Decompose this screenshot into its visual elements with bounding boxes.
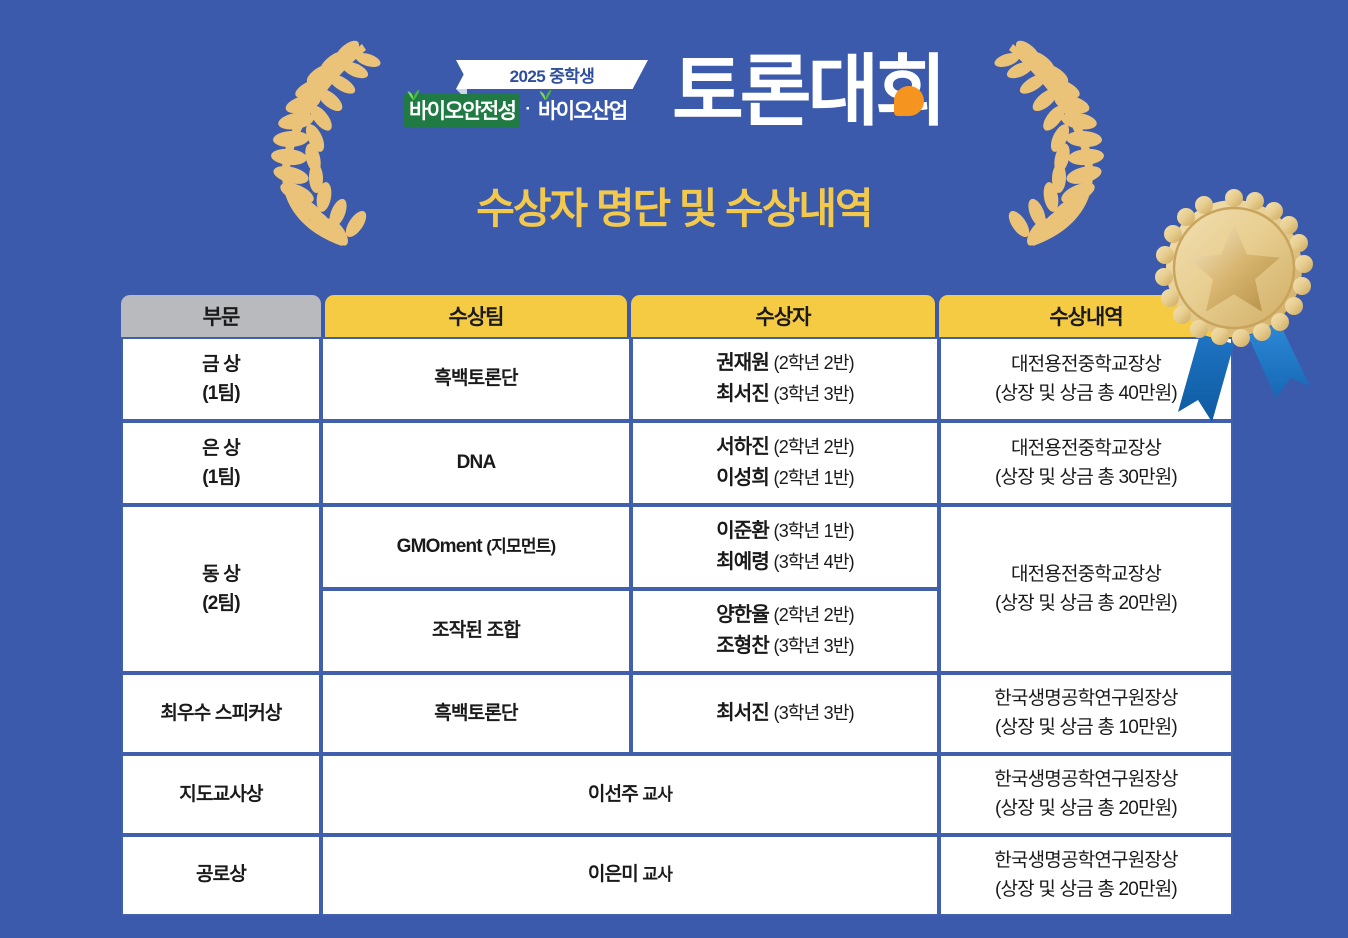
winner-class: (3학년 3반) <box>774 703 854 723</box>
part-team-count: (2팀) <box>129 589 313 618</box>
winner-class: (3학년 3반) <box>774 384 854 404</box>
winner-entry: 이성희 (2학년 1반) <box>639 463 931 494</box>
table-row: 지도교사상 이선주 교사 한국생명공학연구원장상 (상장 및 상금 총 20만원… <box>121 754 1233 835</box>
team-alias: (지모먼트) <box>486 537 555 556</box>
table-row: 공로상 이은미 교사 한국생명공학연구원장상 (상장 및 상금 총 20만원) <box>121 835 1233 916</box>
winner-entry: 이준환 (3학년 1반) <box>639 516 931 547</box>
cell-part: 지도교사상 <box>121 754 321 835</box>
winner-name: 권재원 <box>716 352 769 374</box>
winner-class: (3학년 4반) <box>774 552 854 572</box>
awards-table-header: 부문 수상팀 수상자 수상내역 <box>121 295 1233 337</box>
winner-class: (3학년 1반) <box>774 521 854 541</box>
award-title: 한국생명공학연구원장상 <box>947 765 1225 794</box>
winner-entry: 최서진 (3학년 3반) <box>639 379 931 410</box>
page-title: 토론대회 <box>672 52 943 130</box>
cell-award: 한국생명공학연구원장상 (상장 및 상금 총 20만원) <box>939 835 1233 916</box>
column-header-part: 부문 <box>121 295 321 337</box>
cell-team: 조작된 조합 <box>321 589 631 673</box>
winner-entry: 최서진 (3학년 3반) <box>639 698 931 729</box>
teacher-name: 이선주 <box>588 784 638 805</box>
winner-name: 양한율 <box>716 604 769 626</box>
winner-name: 서하진 <box>716 436 769 458</box>
bio-industry-label: 바이오산업 <box>538 100 627 123</box>
winner-name: 최예령 <box>716 551 769 573</box>
award-title: 한국생명공학연구원장상 <box>947 684 1225 713</box>
cell-teacher: 이은미 교사 <box>321 835 939 916</box>
column-header-team: 수상팀 <box>325 295 627 337</box>
winner-name: 이성희 <box>716 467 769 489</box>
bio-safety-chip: 바이오안전성 <box>404 94 520 127</box>
year-banner-label: 2025 중학생 <box>510 62 595 87</box>
winner-class: (2학년 1반) <box>774 468 854 488</box>
award-title: 대전용전중학교장상 <box>947 560 1225 589</box>
column-header-winner: 수상자 <box>631 295 935 337</box>
cell-award: 한국생명공학연구원장상 (상장 및 상금 총 20만원) <box>939 754 1233 835</box>
winner-class: (2학년 2반) <box>774 605 854 625</box>
team-name: 흑백토론단 <box>434 703 517 724</box>
leaf-sprout-icon <box>407 88 420 100</box>
award-amount: (상장 및 상금 총 30만원) <box>947 463 1225 492</box>
winner-class: (2학년 2반) <box>774 353 854 373</box>
cell-part: 공로상 <box>121 835 321 916</box>
cell-winners: 이준환 (3학년 1반) 최예령 (3학년 4반) <box>631 505 939 589</box>
event-logo-block: 2025 중학생 바이오안전성 · 바이오산업 <box>404 60 674 127</box>
cell-winners: 양한율 (2학년 2반) 조형찬 (3학년 3반) <box>631 589 939 673</box>
cell-part: 최우수 스피커상 <box>121 673 321 754</box>
table-row: 은 상 (1팀) DNA 서하진 (2학년 2반) 이성희 (2학년 1반) <box>121 421 1233 505</box>
cell-part: 금 상 (1팀) <box>121 337 321 421</box>
part-name: 공로상 <box>129 860 313 889</box>
winner-class: (2학년 2반) <box>774 437 854 457</box>
bio-separator: · <box>525 100 531 121</box>
winner-name: 조형찬 <box>716 635 769 657</box>
speech-bubble-dot-icon <box>894 86 924 116</box>
winner-entry: 조형찬 (3학년 3반) <box>639 631 931 662</box>
table-row: 동 상 (2팀) GMOment (지모먼트) 이준환 (3학년 1반) 최예령… <box>121 505 1233 589</box>
part-name: 은 상 <box>129 434 313 463</box>
winner-name: 최서진 <box>716 702 769 724</box>
table-row: 금 상 (1팀) 흑백토론단 권재원 (2학년 2반) 최서진 (3학년 3반) <box>121 337 1233 421</box>
teacher-title: 교사 <box>642 865 672 884</box>
cell-team: GMOment (지모먼트) <box>321 505 631 589</box>
winner-entry: 양한율 (2학년 2반) <box>639 600 931 631</box>
part-name: 금 상 <box>129 350 313 379</box>
bio-safety-label: 바이오안전성 <box>409 100 515 123</box>
part-team-count: (1팀) <box>129 379 313 408</box>
award-amount: (상장 및 상금 총 20만원) <box>947 794 1225 823</box>
cell-teacher: 이선주 교사 <box>321 754 939 835</box>
awards-table-container: 부문 수상팀 수상자 수상내역 금 상 (1팀) 흑백토론단 <box>121 295 1221 916</box>
page-subtitle: 수상자 명단 및 수상내역 <box>0 175 1348 236</box>
cell-winners: 최서진 (3학년 3반) <box>631 673 939 754</box>
award-title: 대전용전중학교장상 <box>947 350 1225 379</box>
part-team-count: (1팀) <box>129 463 313 492</box>
awards-table: 부문 수상팀 수상자 수상내역 금 상 (1팀) 흑백토론단 <box>121 295 1233 916</box>
winner-name: 최서진 <box>716 383 769 405</box>
award-title: 대전용전중학교장상 <box>947 434 1225 463</box>
award-title: 한국생명공학연구원장상 <box>947 846 1225 875</box>
team-name: 조작된 조합 <box>432 620 520 641</box>
award-amount: (상장 및 상금 총 20만원) <box>947 589 1225 618</box>
winner-name: 이준환 <box>716 520 769 542</box>
bio-industry-chip: 바이오산업 <box>536 94 632 127</box>
awards-table-body: 금 상 (1팀) 흑백토론단 권재원 (2학년 2반) 최서진 (3학년 3반) <box>121 337 1233 916</box>
cell-winners: 권재원 (2학년 2반) 최서진 (3학년 3반) <box>631 337 939 421</box>
winner-entry: 권재원 (2학년 2반) <box>639 348 931 379</box>
cell-winners: 서하진 (2학년 2반) 이성희 (2학년 1반) <box>631 421 939 505</box>
year-banner: 2025 중학생 <box>456 60 648 89</box>
part-name: 지도교사상 <box>129 780 313 809</box>
leaf-sprout-icon-2 <box>539 88 552 100</box>
cell-team: 흑백토론단 <box>321 337 631 421</box>
team-name: 흑백토론단 <box>434 368 517 389</box>
teacher-title: 교사 <box>642 785 672 804</box>
winner-entry: 서하진 (2학년 2반) <box>639 432 931 463</box>
column-header-award: 수상내역 <box>939 295 1233 337</box>
table-row: 최우수 스피커상 흑백토론단 최서진 (3학년 3반) 한국생명공학연구원장상 … <box>121 673 1233 754</box>
winner-entry: 최예령 (3학년 4반) <box>639 547 931 578</box>
winner-class: (3학년 3반) <box>774 636 854 656</box>
teacher-name: 이은미 <box>588 864 638 885</box>
bio-topic-line: 바이오안전성 · 바이오산업 <box>404 94 674 127</box>
cell-part: 은 상 (1팀) <box>121 421 321 505</box>
cell-team: 흑백토론단 <box>321 673 631 754</box>
header-row: 부문 수상팀 수상자 수상내역 <box>121 295 1233 337</box>
award-amount: (상장 및 상금 총 20만원) <box>947 875 1225 904</box>
part-name: 동 상 <box>129 560 313 589</box>
team-name: DNA <box>457 452 496 473</box>
part-name: 최우수 스피커상 <box>129 699 313 728</box>
award-amount: (상장 및 상금 총 10만원) <box>947 713 1225 742</box>
poster-header: 2025 중학생 바이오안전성 · 바이오산업 토론대회 <box>0 0 1348 280</box>
cell-award: 대전용전중학교장상 (상장 및 상금 총 20만원) <box>939 505 1233 673</box>
cell-award: 대전용전중학교장상 (상장 및 상금 총 30만원) <box>939 421 1233 505</box>
award-amount: (상장 및 상금 총 40만원) <box>947 379 1225 408</box>
cell-team: DNA <box>321 421 631 505</box>
team-name: GMOment <box>397 536 482 557</box>
cell-award: 한국생명공학연구원장상 (상장 및 상금 총 10만원) <box>939 673 1233 754</box>
cell-part: 동 상 (2팀) <box>121 505 321 673</box>
cell-award: 대전용전중학교장상 (상장 및 상금 총 40만원) <box>939 337 1233 421</box>
